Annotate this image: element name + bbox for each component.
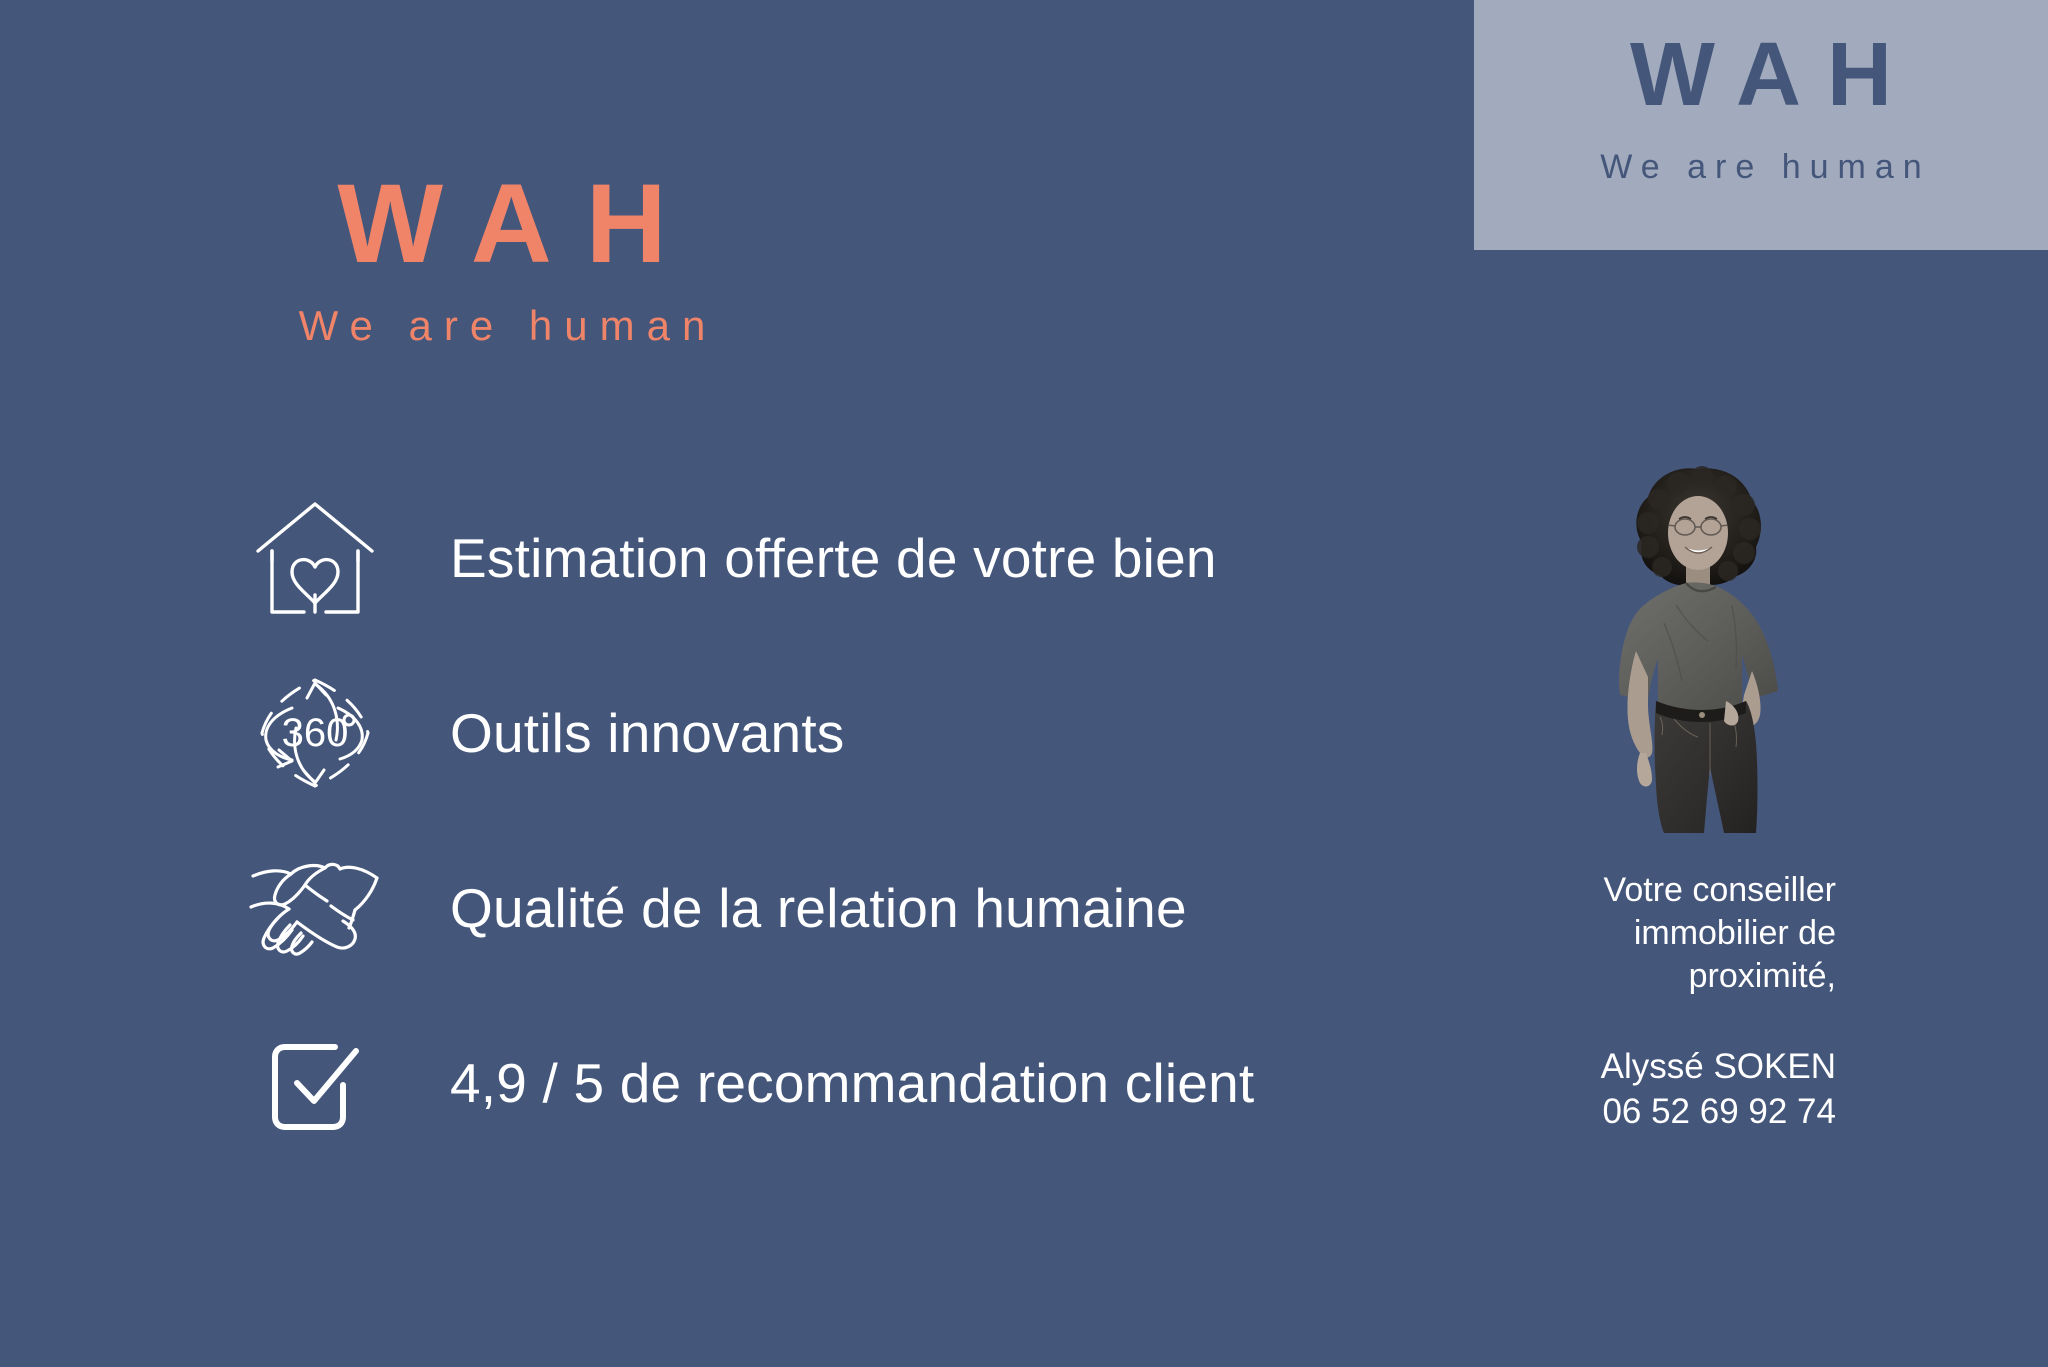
agent-role: Votre conseiller immobilier de proximité… <box>1548 869 1848 997</box>
poster-canvas: WAH We are human WAH We are human Estima… <box>0 0 2048 1367</box>
feature-list: Estimation offerte de votre bien <box>240 470 1420 1170</box>
agent-role-line-3: proximité, <box>1548 955 1836 998</box>
feature-label: 4,9 / 5 de recommandation client <box>450 1051 1254 1115</box>
rotate-360-icon: 360 <box>240 670 390 796</box>
svg-text:360: 360 <box>282 711 349 755</box>
agent-portrait <box>1586 455 1811 835</box>
feature-label: Estimation offerte de votre bien <box>450 526 1217 590</box>
logo-tagline: We are human <box>262 302 742 350</box>
agent-panel: Votre conseiller immobilier de proximité… <box>1548 455 1848 1135</box>
brand-badge: WAH We are human <box>1474 0 2048 250</box>
brand-logo: WAH We are human <box>262 168 742 350</box>
house-heart-icon <box>240 499 390 617</box>
badge-tagline: We are human <box>1474 148 2048 187</box>
agent-role-line-2: immobilier de <box>1548 912 1836 955</box>
agent-name: Alyssé SOKEN <box>1548 1045 1848 1090</box>
logo-wordmark: WAH <box>262 168 742 280</box>
feature-item-rating: 4,9 / 5 de recommandation client <box>240 995 1420 1170</box>
feature-item-tools: 360 Outils innovants <box>240 645 1420 820</box>
feature-label: Qualité de la relation humaine <box>450 876 1187 940</box>
checkbox-check-icon <box>240 1027 390 1139</box>
agent-phone[interactable]: 06 52 69 92 74 <box>1548 1090 1848 1135</box>
agent-role-line-1: Votre conseiller <box>1548 869 1836 912</box>
badge-wordmark: WAH <box>1474 28 2048 123</box>
handshake-icon <box>240 854 390 962</box>
feature-label: Outils innovants <box>450 701 845 765</box>
feature-item-relation: Qualité de la relation humaine <box>240 820 1420 995</box>
feature-item-estimation: Estimation offerte de votre bien <box>240 470 1420 645</box>
